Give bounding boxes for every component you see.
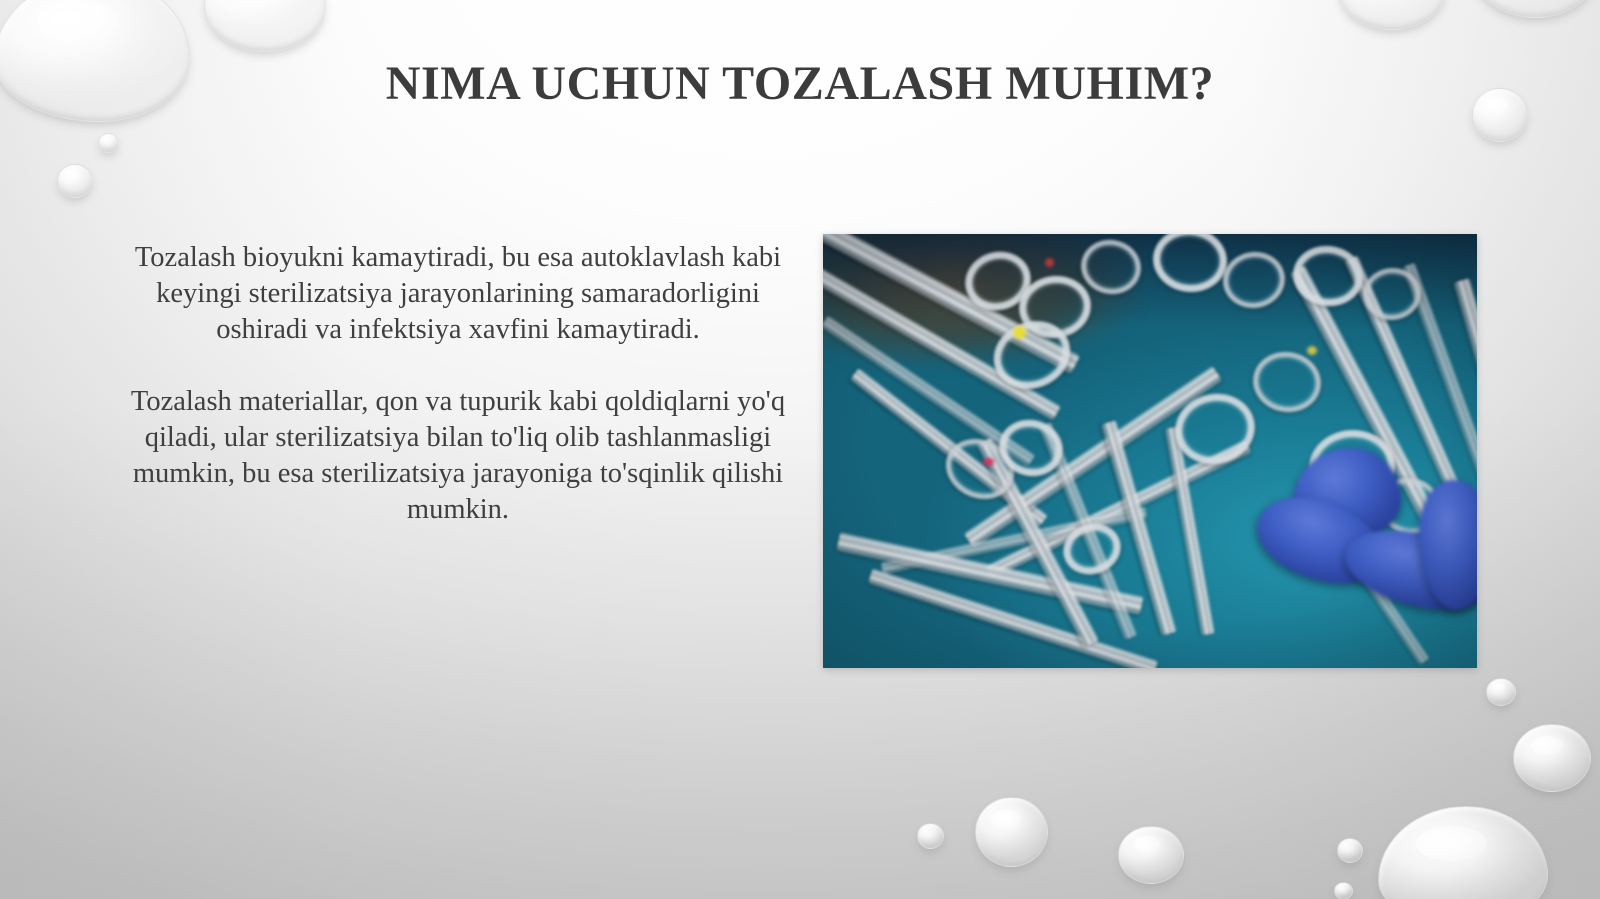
water-droplet-icon [1472, 0, 1598, 18]
water-droplet-icon [1486, 678, 1516, 706]
water-droplet-icon [204, 0, 326, 52]
water-droplet-icon [98, 133, 119, 153]
surgical-instruments-image [823, 234, 1477, 668]
water-droplet-icon [57, 164, 93, 198]
body-text-block: Tozalash bioyukni kamaytiradi, bu esa au… [126, 240, 790, 528]
water-droplet-icon [1337, 838, 1363, 863]
water-droplet-icon [1338, 0, 1446, 30]
water-droplet-icon [1334, 882, 1353, 899]
slide-root: Nima uchun tozalash muhim? Tozalash bioy… [0, 0, 1600, 899]
body-paragraph-1: Tozalash bioyukni kamaytiradi, bu esa au… [126, 240, 790, 348]
photo-canvas [823, 234, 1477, 668]
water-droplet-icon [1118, 826, 1184, 884]
slide-title: Nima uchun tozalash muhim? [0, 56, 1600, 111]
photo-vignette [823, 234, 1477, 668]
water-droplet-icon [1513, 724, 1591, 792]
body-paragraph-2: Tozalash materiallar, qon va tupurik kab… [126, 384, 790, 528]
water-droplet-icon [975, 797, 1048, 867]
paragraph-spacer [126, 348, 790, 384]
water-droplet-icon [917, 823, 944, 849]
water-droplet-icon [1378, 806, 1548, 899]
